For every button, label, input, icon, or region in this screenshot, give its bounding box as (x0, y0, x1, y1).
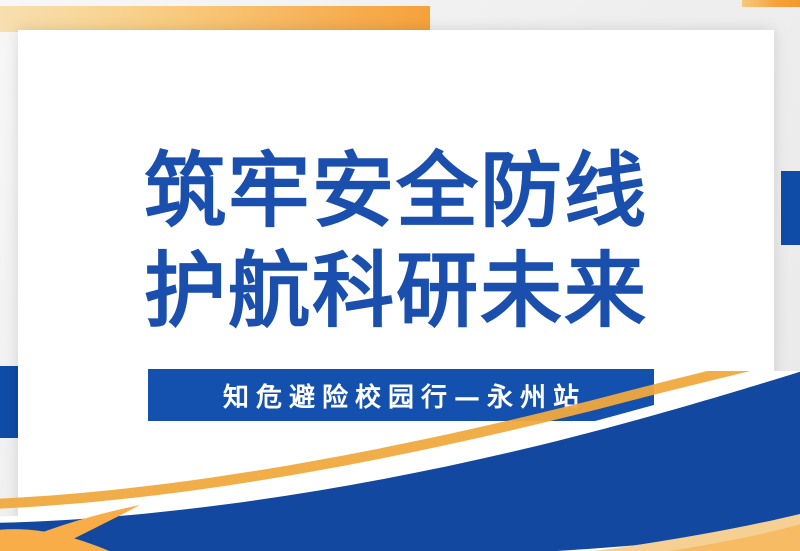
subtitle-text: 知危避险校园行—永州站 (216, 377, 586, 414)
right-blue-accent-block (781, 171, 800, 245)
poster-canvas: 筑牢安全防线 护航科研未来 知危避险校园行—永州站 (0, 0, 800, 551)
headline-line-1: 筑牢安全防线 (18, 142, 774, 242)
subtitle-banner: 知危避险校园行—永州站 (148, 369, 654, 421)
left-blue-accent-block (0, 366, 19, 438)
poster-card: 筑牢安全防线 护航科研未来 (18, 30, 774, 528)
top-right-orange-strip (742, 0, 800, 7)
top-left-orange-bar (0, 6, 430, 32)
headline-line-2: 护航科研未来 (18, 242, 774, 342)
headline-group: 筑牢安全防线 护航科研未来 (18, 142, 774, 342)
